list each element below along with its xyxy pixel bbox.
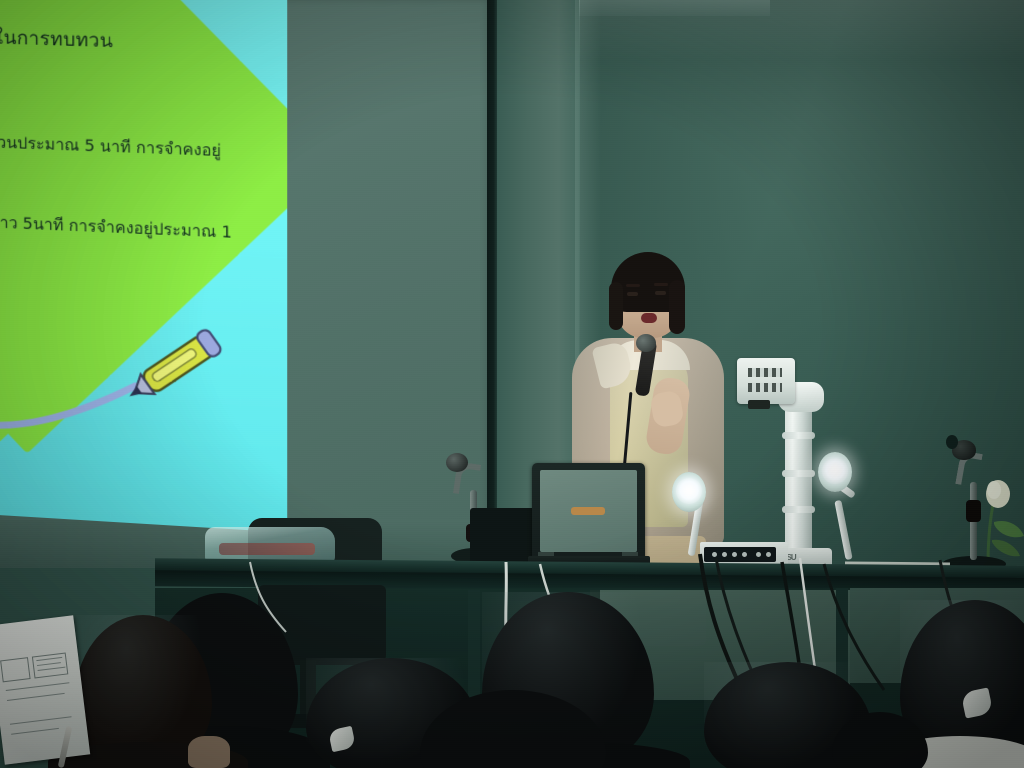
presenter-hair-left [609, 282, 623, 330]
presenter-brow-right [654, 283, 668, 286]
photo-scene: ษฎีในการทบทวน ทบทวนประมาณ 5 นาที การจำคง… [0, 0, 1024, 768]
pen-clipart-icon [0, 307, 267, 454]
handout-line [7, 693, 65, 701]
visualizer-column [785, 400, 812, 560]
presenter-eye-right [655, 291, 666, 295]
handout-cell [0, 657, 30, 682]
visualizer-grill-top [748, 368, 782, 377]
visualizer-camera-head [737, 358, 795, 404]
presenter-brow-left [626, 284, 640, 287]
microphone-head-icon [636, 334, 656, 352]
visualizer-joint-3 [782, 506, 815, 513]
visualizer-joint-1 [782, 432, 815, 439]
desk-mic-right-head-icon [952, 440, 976, 460]
desk-mic-right-ring [966, 500, 981, 522]
handout-line [6, 682, 70, 691]
presenter-mouth [641, 313, 657, 323]
lamp-right-glow [822, 458, 848, 484]
visualizer-grill-bottom [748, 383, 782, 392]
desk-mic-left-head-icon [446, 453, 468, 472]
lamp-left-glow [676, 478, 702, 504]
handout-line [11, 728, 59, 735]
presenter-hair-right [669, 280, 685, 334]
handout-line [10, 716, 72, 725]
audience-hand [188, 736, 230, 768]
visualizer-joint-2 [782, 470, 815, 477]
visualizer-lens-icon [748, 400, 770, 409]
projected-slide: ษฎีในการทบทวน ทบทวนประมาณ 5 นาที การจำคง… [0, 0, 287, 532]
laptop-logo [571, 507, 605, 515]
slide-title: ษฎีในการทบทวน [0, 22, 113, 57]
presenter-eye-left [627, 292, 638, 296]
